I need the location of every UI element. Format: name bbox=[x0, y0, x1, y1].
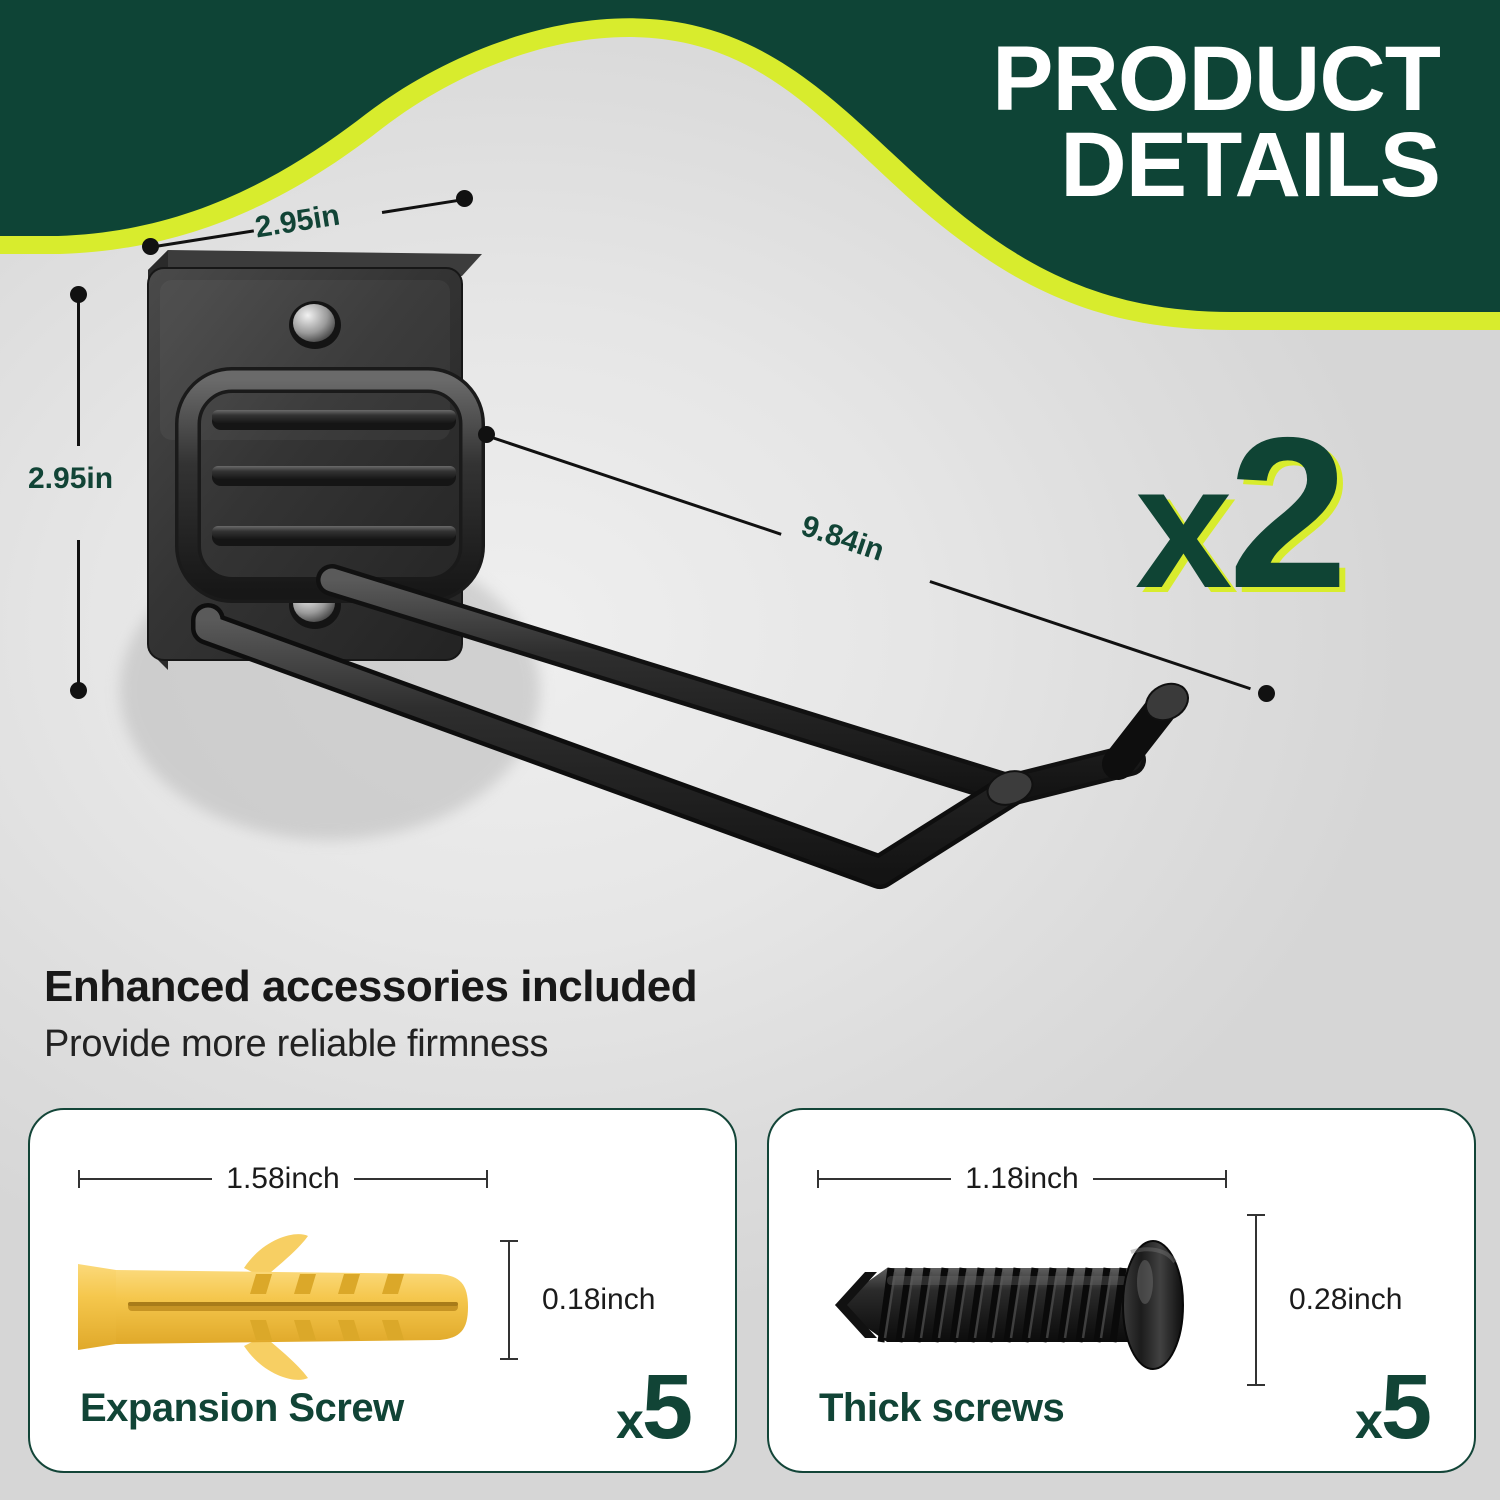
measure-seg-left bbox=[819, 1178, 951, 1180]
card-title-thick-screws: Thick screws bbox=[819, 1386, 1064, 1431]
dim-label-plate-height: 2.95in bbox=[28, 462, 113, 496]
measure-length-thick-screws: 1.18inch bbox=[817, 1162, 1227, 1196]
accessories-heading: Enhanced accessories included bbox=[44, 962, 1144, 1013]
accessories-intro: Enhanced accessories included Provide mo… bbox=[44, 962, 1144, 1066]
quantity-count: 2 bbox=[1228, 392, 1344, 633]
card-qty-prefix: x bbox=[616, 1393, 642, 1449]
measure-seg-right bbox=[354, 1178, 486, 1180]
card-quantity-thick-screws: x5 bbox=[1355, 1361, 1430, 1453]
measure-length-label: 1.58inch bbox=[212, 1162, 353, 1196]
quantity-prefix: x bbox=[1135, 430, 1228, 625]
measure-diameter-expansion-screw: 0.18inch bbox=[500, 1240, 655, 1360]
screw-hole-top bbox=[289, 301, 341, 349]
card-qty-count: 5 bbox=[1381, 1356, 1430, 1458]
card-quantity-expansion-screw: x5 bbox=[616, 1361, 691, 1453]
dim-dot-start bbox=[478, 426, 495, 443]
expansion-screw-illustration bbox=[68, 1222, 488, 1392]
dim-dot-end bbox=[1258, 685, 1275, 702]
measure-cap-right bbox=[1225, 1170, 1227, 1188]
card-qty-prefix: x bbox=[1355, 1393, 1381, 1449]
measure-length-expansion-screw: 1.58inch bbox=[78, 1162, 488, 1196]
card-qty-count: 5 bbox=[642, 1356, 691, 1458]
dim-line-top bbox=[77, 296, 80, 446]
accessories-subheading: Provide more reliable firmness bbox=[44, 1023, 1144, 1066]
accessory-card-expansion-screw[interactable]: 1.58inch 0.18inch bbox=[28, 1108, 737, 1473]
measure-diameter-label: 0.18inch bbox=[542, 1283, 655, 1317]
card-title-expansion-screw: Expansion Screw bbox=[80, 1386, 404, 1431]
accessory-card-list: 1.58inch 0.18inch bbox=[28, 1108, 1476, 1473]
measure-cap-bottom bbox=[500, 1358, 518, 1360]
hook-tip-rear bbox=[1118, 677, 1194, 764]
measure-cap-bottom bbox=[1247, 1384, 1265, 1386]
measure-seg-right bbox=[1093, 1178, 1225, 1180]
measure-diameter-label: 0.28inch bbox=[1289, 1283, 1402, 1317]
thick-screw-illustration bbox=[801, 1210, 1241, 1400]
measure-vertical-bar bbox=[500, 1240, 518, 1360]
dim-line-bottom bbox=[77, 540, 80, 688]
measure-length-label: 1.18inch bbox=[951, 1162, 1092, 1196]
quantity-badge-product: x2 bbox=[1135, 405, 1344, 620]
measure-seg-vertical bbox=[508, 1242, 510, 1358]
measure-seg-vertical bbox=[1255, 1216, 1257, 1384]
infographic-canvas: PRODUCT DETAILS bbox=[0, 0, 1500, 1500]
accessory-card-thick-screws[interactable]: 1.18inch 0.28inch bbox=[767, 1108, 1476, 1473]
measure-seg-left bbox=[80, 1178, 212, 1180]
measure-vertical-bar bbox=[1247, 1214, 1265, 1386]
measure-cap-right bbox=[486, 1170, 488, 1188]
